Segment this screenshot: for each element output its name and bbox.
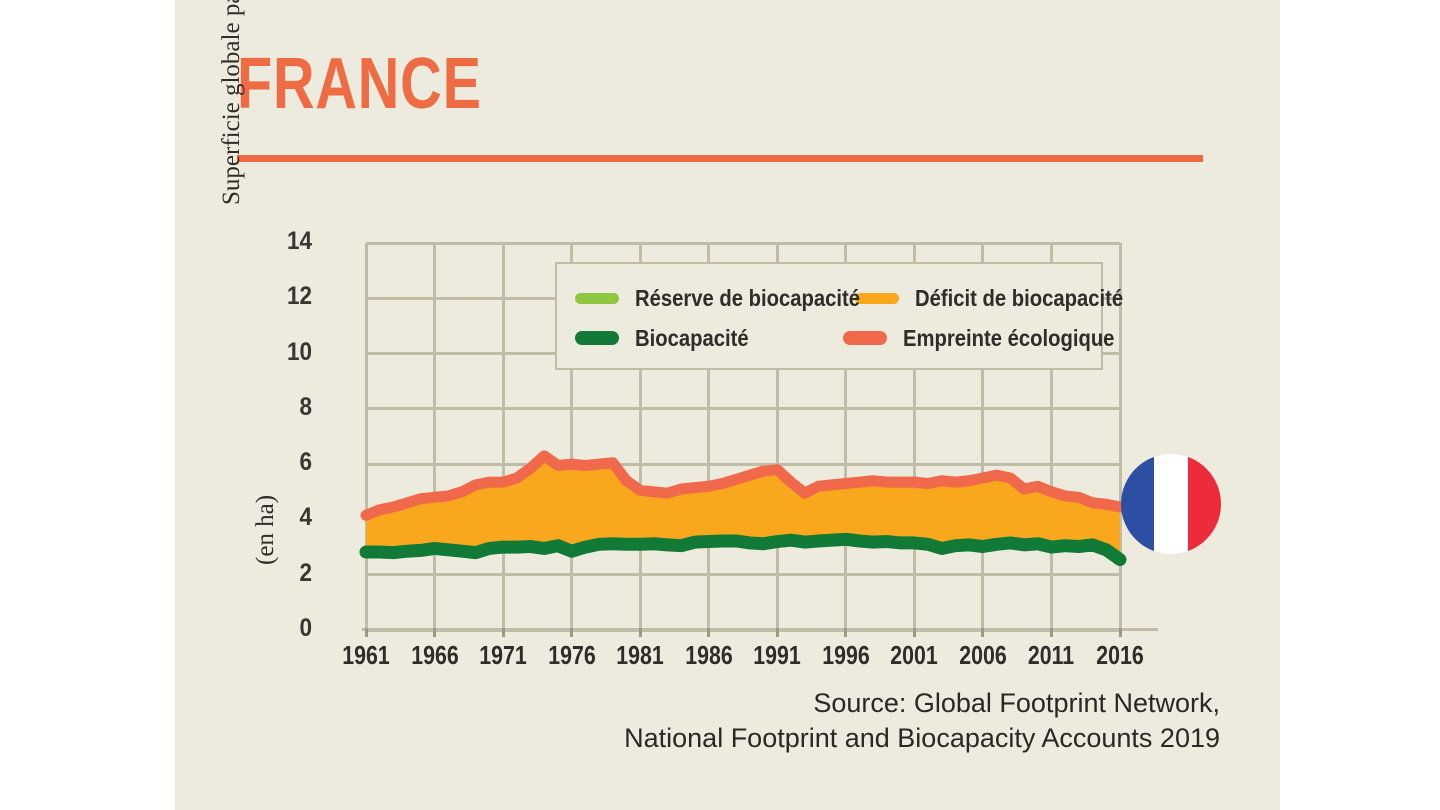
- x-axis-tick-label: 2001: [877, 640, 951, 671]
- x-axis-tick-mark: [776, 628, 779, 637]
- x-axis-tick-label: 1981: [603, 640, 677, 671]
- legend-row-1: Réserve de biocapacité Déficit de biocap…: [575, 278, 1083, 318]
- source-note: Source: Global Footprint Network, Nation…: [480, 686, 1220, 755]
- legend-label-reserve: Réserve de biocapacité: [635, 285, 860, 312]
- x-axis-tick-mark: [844, 628, 847, 637]
- legend-label-deficit: Déficit de biocapacité: [915, 285, 1123, 312]
- legend-label-footprint: Empreinte écologique: [903, 325, 1114, 352]
- france-flag-icon: [1121, 454, 1221, 554]
- x-axis-tick-label: 2011: [1015, 640, 1089, 671]
- x-axis-tick-label: 1991: [740, 640, 814, 671]
- x-axis-tick-label: 1966: [398, 640, 472, 671]
- legend-swatch-reserve-icon: [575, 293, 619, 304]
- x-axis-tick-label: 1961: [329, 640, 403, 671]
- y-axis-label-line1: Superficie globale par personne: [218, 0, 246, 205]
- x-axis-tick-mark: [1119, 628, 1122, 637]
- x-axis-tick-mark: [433, 628, 436, 637]
- y-axis-tick-label: 0: [258, 614, 312, 643]
- title-underline-rule: [237, 155, 1203, 162]
- legend-swatch-deficit-icon: [855, 293, 899, 304]
- source-line-2: National Footprint and Biocapacity Accou…: [480, 721, 1220, 756]
- legend-label-biocapacity: Biocapacité: [635, 325, 749, 352]
- x-axis-tick-mark: [707, 628, 710, 637]
- x-axis-tick-label: 2016: [1083, 640, 1157, 671]
- x-axis-tick-label: 2006: [946, 640, 1020, 671]
- page-title: FRANCE: [237, 48, 482, 120]
- x-axis-tick-mark: [639, 628, 642, 637]
- x-axis-tick-label: 1996: [809, 640, 883, 671]
- slide-root: FRANCE Superficie globale par personne (…: [0, 0, 1440, 810]
- legend-item-deficit: Déficit de biocapacité: [855, 285, 1095, 312]
- y-axis-tick-label: 8: [258, 393, 312, 422]
- x-axis-tick-label: 1986: [672, 640, 746, 671]
- x-axis-tick-mark: [913, 628, 916, 637]
- y-axis-tick-label: 10: [258, 338, 312, 367]
- y-axis-tick-label: 2: [258, 559, 312, 588]
- y-axis-label-line2: (en ha): [252, 405, 280, 565]
- chart-legend: Réserve de biocapacité Déficit de biocap…: [555, 262, 1103, 370]
- flag-band-white: [1154, 454, 1187, 554]
- legend-item-reserve: Réserve de biocapacité: [575, 285, 855, 312]
- legend-swatch-biocapacity-icon: [575, 331, 619, 345]
- y-axis-tick-label: 12: [258, 282, 312, 311]
- x-axis-tick-mark: [570, 628, 573, 637]
- x-axis-tick-label: 1976: [535, 640, 609, 671]
- x-axis-tick-label: 1971: [466, 640, 540, 671]
- x-axis-tick-mark: [981, 628, 984, 637]
- legend-swatch-footprint-icon: [843, 331, 887, 345]
- legend-item-footprint: Empreinte écologique: [843, 325, 1083, 352]
- x-axis-tick-mark: [502, 628, 505, 637]
- source-line-1: Source: Global Footprint Network,: [480, 686, 1220, 721]
- x-axis-line: [362, 628, 1158, 631]
- legend-row-2: Biocapacité Empreinte écologique: [575, 318, 1083, 358]
- y-axis-tick-label: 14: [258, 227, 312, 256]
- y-axis-tick-label: 6: [258, 448, 312, 477]
- y-axis-tick-label: 4: [258, 503, 312, 532]
- x-axis-tick-mark: [365, 628, 368, 637]
- legend-item-biocapacity: Biocapacité: [575, 325, 843, 352]
- x-axis-tick-mark: [1050, 628, 1053, 637]
